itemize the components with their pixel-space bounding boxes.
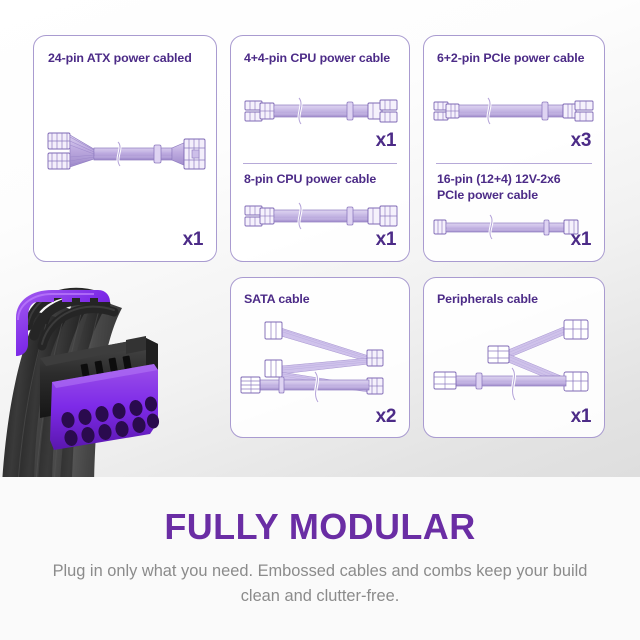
cable-art-4plus4-pin-cpu [243, 95, 399, 127]
cable-art-sata [239, 314, 405, 404]
braided-atx-connector-photo [0, 272, 212, 477]
cable-label-6plus2-pin-pcie: 6+2-pin PCIe power cable [437, 51, 587, 67]
cable-qty-4plus4-pin-cpu: x1 [376, 130, 396, 152]
card-sata: SATA cable [230, 277, 410, 438]
cable-label-sata: SATA cable [244, 292, 394, 308]
card-divider [436, 163, 592, 164]
cable-inventory-panel: 24-pin ATX power cabled [0, 0, 640, 477]
cable-label-peripherals: Peripherals cable [437, 292, 589, 308]
cable-label-16-pin-12vhpwr: 16-pin (12+4) 12V-2x6 PCIe power cable [437, 172, 589, 203]
cable-label-4plus4-pin-cpu: 4+4-pin CPU power cable [244, 51, 394, 67]
headline: FULLY MODULAR [0, 507, 640, 547]
card-divider [243, 163, 397, 164]
card-cpu-power: 4+4-pin CPU power cable [230, 35, 410, 262]
cable-qty-16-pin-12vhpwr: x1 [571, 229, 591, 251]
card-24-pin-atx: 24-pin ATX power cabled [33, 35, 217, 262]
cable-label-8-pin-cpu: 8-pin CPU power cable [244, 172, 400, 188]
cable-qty-6plus2-pin-pcie: x3 [571, 130, 591, 152]
marketing-graphic: 24-pin ATX power cabled [0, 0, 640, 640]
cable-art-24-pin-atx [46, 128, 206, 180]
cable-art-8-pin-cpu [243, 200, 399, 232]
cable-art-6plus2-pin-pcie [432, 95, 596, 127]
cable-art-peripherals [432, 314, 600, 404]
cable-qty-24-pin-atx: x1 [183, 229, 203, 251]
cable-qty-peripherals: x1 [571, 406, 591, 428]
card-pcie-power: 6+2-pin PCIe power cable [423, 35, 605, 262]
cable-qty-sata: x2 [376, 406, 396, 428]
caption-panel: FULLY MODULAR Plug in only what you need… [0, 477, 640, 640]
subcopy-line-1: Plug in only what you need. Embossed cab… [53, 562, 512, 580]
cable-label-24-pin-atx: 24-pin ATX power cabled [48, 51, 194, 67]
cable-qty-8-pin-cpu: x1 [376, 229, 396, 251]
subcopy: Plug in only what you need. Embossed cab… [0, 559, 640, 609]
card-peripherals: Peripherals cable [423, 277, 605, 438]
